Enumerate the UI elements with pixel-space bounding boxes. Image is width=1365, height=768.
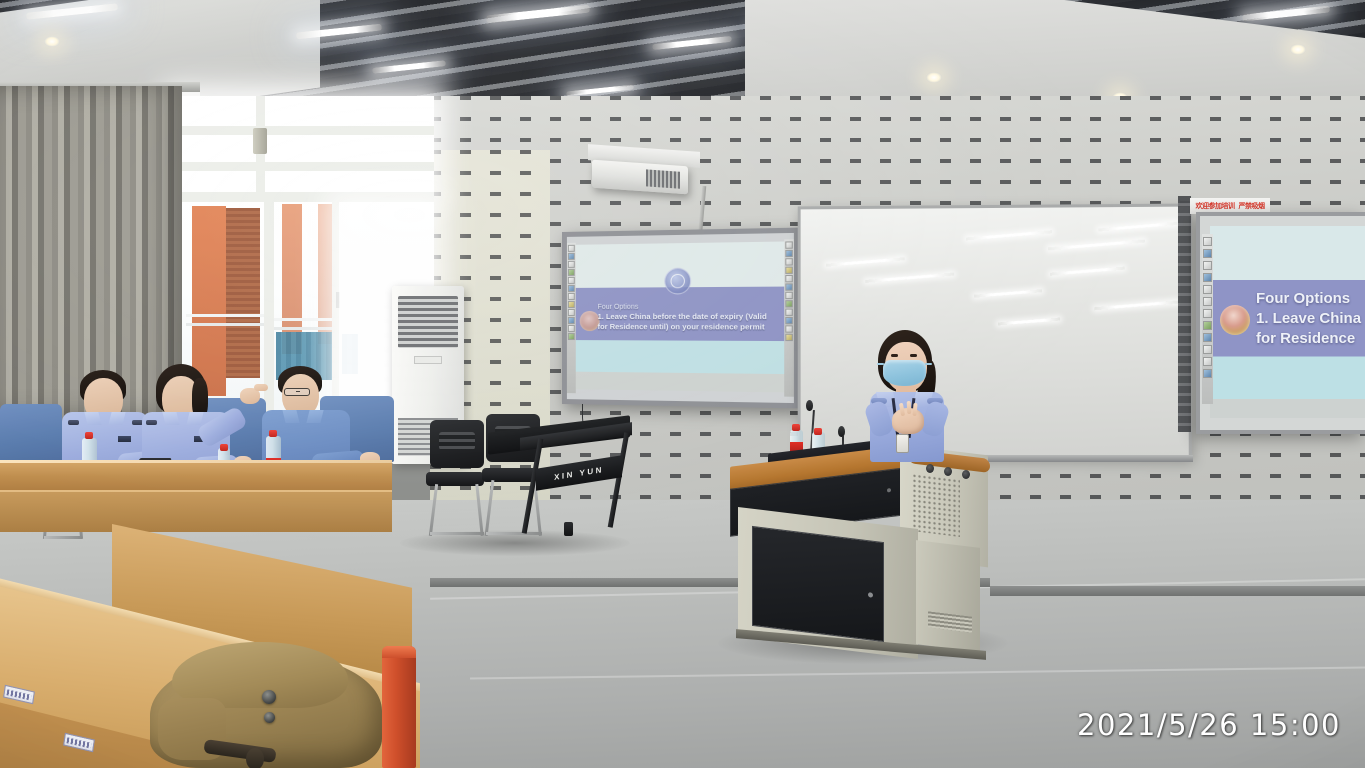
- bottle-cap: [792, 424, 800, 431]
- gallery-icon[interactable]: [1203, 321, 1212, 330]
- exterior-building-wall: [318, 204, 332, 344]
- projected-slide: Four Options 1. Leave China before the d…: [576, 241, 784, 392]
- marker-icon[interactable]: [1203, 297, 1212, 306]
- image-icon[interactable]: [568, 301, 575, 308]
- undo-icon[interactable]: [568, 317, 575, 324]
- uniform-rank-insignia: [68, 420, 79, 425]
- slide-body-line-1: 1. Leave China: [1256, 309, 1365, 329]
- ac-brand-badge: [414, 356, 442, 364]
- highlighter-icon[interactable]: [568, 253, 575, 260]
- lectern-speaker-grille: [912, 473, 960, 537]
- exterior-building-wall: [192, 206, 226, 396]
- face-mask: [883, 360, 926, 386]
- shape-icon[interactable]: [1203, 273, 1212, 282]
- stamp-icon[interactable]: [1203, 309, 1212, 318]
- ceiling-light-reflections: [1048, 239, 1145, 250]
- exterior-railing: [186, 314, 266, 317]
- iwb-toolbar-left[interactable]: [567, 243, 576, 393]
- eraser-icon[interactable]: [1203, 261, 1212, 270]
- slide-body-line-1: 1. Leave China before the date of expiry…: [598, 312, 778, 323]
- left-interactive-whiteboard[interactable]: Four Options 1. Leave China before the d…: [562, 228, 799, 409]
- folder-icon[interactable]: [1203, 333, 1212, 342]
- iwb-toolbar-left[interactable]: [1202, 234, 1213, 404]
- folder-icon[interactable]: [785, 309, 793, 316]
- whiteboard-rail-edge: [1178, 196, 1191, 432]
- settings-icon[interactable]: [568, 333, 575, 340]
- ac-air-grille: [398, 296, 458, 348]
- redo-icon[interactable]: [568, 325, 575, 332]
- lectern-side-panel: [916, 540, 980, 652]
- eyeglasses: [284, 388, 310, 396]
- shapes-icon[interactable]: [568, 269, 575, 276]
- lectern-cabinet-door[interactable]: [752, 526, 884, 642]
- line-icon[interactable]: [568, 285, 575, 292]
- keyboard-brand-plate: XIN YUN: [536, 455, 622, 491]
- select-icon[interactable]: [1203, 285, 1212, 294]
- uniform-chest-badge: [118, 436, 131, 442]
- marker-icon[interactable]: [785, 283, 793, 290]
- pen-icon[interactable]: [1203, 237, 1212, 246]
- slide-body-line-2: for Residence until) on your residence p…: [598, 322, 778, 333]
- police-emblem-watermark: [664, 268, 691, 295]
- brush-icon[interactable]: [1203, 249, 1212, 258]
- projector-vent: [646, 169, 680, 188]
- gear-icon[interactable]: [785, 325, 793, 332]
- photograph-classroom-lecture: Four Options 1. Leave China before the d…: [0, 0, 1365, 768]
- recessed-downlight: [44, 36, 60, 47]
- speaker-finger: [907, 401, 912, 414]
- eraser-icon[interactable]: [568, 261, 575, 268]
- bottle-cap: [269, 430, 277, 437]
- banner-text-right: 严禁吸烟: [1239, 201, 1265, 211]
- speaker-hands: [892, 408, 924, 434]
- text-icon[interactable]: [568, 293, 575, 300]
- ceiling-light-reflections: [998, 318, 1060, 326]
- presenting-officer: [852, 330, 962, 460]
- window-curtain[interactable]: [0, 86, 182, 416]
- thermos-bottle[interactable]: [382, 646, 416, 768]
- exterior-brick-wall: [226, 208, 260, 378]
- ceiling-light-reflections: [974, 289, 1042, 297]
- lectern-wall-bracket: [253, 128, 267, 154]
- ceiling-light-reflections: [1094, 300, 1179, 310]
- export-icon[interactable]: [1203, 345, 1212, 354]
- lectern-control-knob[interactable]: [926, 464, 934, 473]
- photo-timestamp: 2021/5/26 15:00: [1077, 708, 1341, 742]
- select-icon[interactable]: [568, 277, 575, 284]
- shape-icon[interactable]: [785, 267, 793, 274]
- exterior-railing: [272, 318, 334, 321]
- brush-icon[interactable]: [785, 250, 793, 257]
- slide-title: Four Options: [598, 302, 778, 312]
- sustain-pedal[interactable]: [564, 522, 573, 536]
- stamp-icon[interactable]: [785, 292, 793, 299]
- right-interactive-whiteboard[interactable]: Four Options 1. Leave China for Residenc…: [1196, 212, 1365, 434]
- chair-backrest: [430, 420, 484, 468]
- slide-body-line-2: for Residence: [1256, 329, 1365, 349]
- backpack-strap: [246, 748, 264, 768]
- ceiling-light-reflections: [966, 230, 1052, 240]
- lectern-control-knob[interactable]: [944, 467, 952, 476]
- recessed-downlight: [1290, 44, 1306, 55]
- ceiling-light-reflections: [1050, 267, 1125, 276]
- ceiling-light-reflections: [865, 273, 954, 283]
- canvas-backpack[interactable]: [150, 636, 386, 768]
- projected-slide: Four Options 1. Leave China for Residenc…: [1210, 226, 1365, 418]
- keyboard-brand-text: XIN YUN: [554, 465, 604, 482]
- wall-baseboard: [990, 586, 1365, 596]
- pen-icon[interactable]: [568, 245, 575, 252]
- export-icon[interactable]: [785, 317, 793, 324]
- banner-text-left: 欢迎参加培训: [1196, 201, 1235, 211]
- shirt-collar: [282, 410, 299, 423]
- window-mullion: [172, 162, 434, 171]
- lectern-control-knob[interactable]: [962, 470, 970, 479]
- close-icon[interactable]: [1203, 369, 1212, 378]
- pen-icon[interactable]: [785, 241, 793, 248]
- floor-seam: [470, 667, 1365, 680]
- backpack-buckle: [262, 690, 276, 704]
- recessed-downlight: [926, 72, 942, 83]
- save-icon[interactable]: [568, 309, 575, 316]
- id-badge: [896, 434, 909, 453]
- multimedia-lectern[interactable]: [730, 448, 986, 648]
- thermos-cap: [382, 646, 416, 658]
- gallery-icon[interactable]: [785, 300, 793, 307]
- ceiling-light-reflections: [1098, 222, 1177, 232]
- slide-title: Four Options: [1256, 289, 1365, 309]
- speaker-finger: [912, 403, 917, 416]
- bottle-cap: [85, 432, 93, 439]
- bottle-cap: [220, 444, 228, 451]
- speaker-eye: [891, 354, 898, 357]
- keyboard-stand[interactable]: XIN YUN: [520, 430, 632, 538]
- close-icon[interactable]: [785, 334, 793, 341]
- iwb-toolbar-right[interactable]: [784, 239, 794, 397]
- bottle-cap: [814, 428, 822, 435]
- window-glass-upper: [172, 96, 434, 192]
- backpack-buckle: [264, 712, 275, 723]
- uniform-collar: [162, 412, 179, 425]
- speaker-eye: [910, 354, 917, 357]
- uniform-rank-insignia: [146, 420, 157, 425]
- gear-icon[interactable]: [1203, 357, 1212, 366]
- keyboard-stand-leg: [608, 432, 630, 527]
- window-mullion: [172, 126, 434, 135]
- person-finger: [254, 384, 268, 391]
- police-badge-emblem: [1220, 305, 1250, 335]
- uniform-collar: [84, 412, 101, 425]
- ceiling-light-reflections: [826, 257, 905, 267]
- police-badge-emblem: [580, 311, 600, 331]
- eraser-icon[interactable]: [785, 258, 793, 265]
- window-mullion: [172, 192, 434, 202]
- table-edge-highlight: [0, 460, 392, 463]
- select-icon[interactable]: [785, 275, 793, 282]
